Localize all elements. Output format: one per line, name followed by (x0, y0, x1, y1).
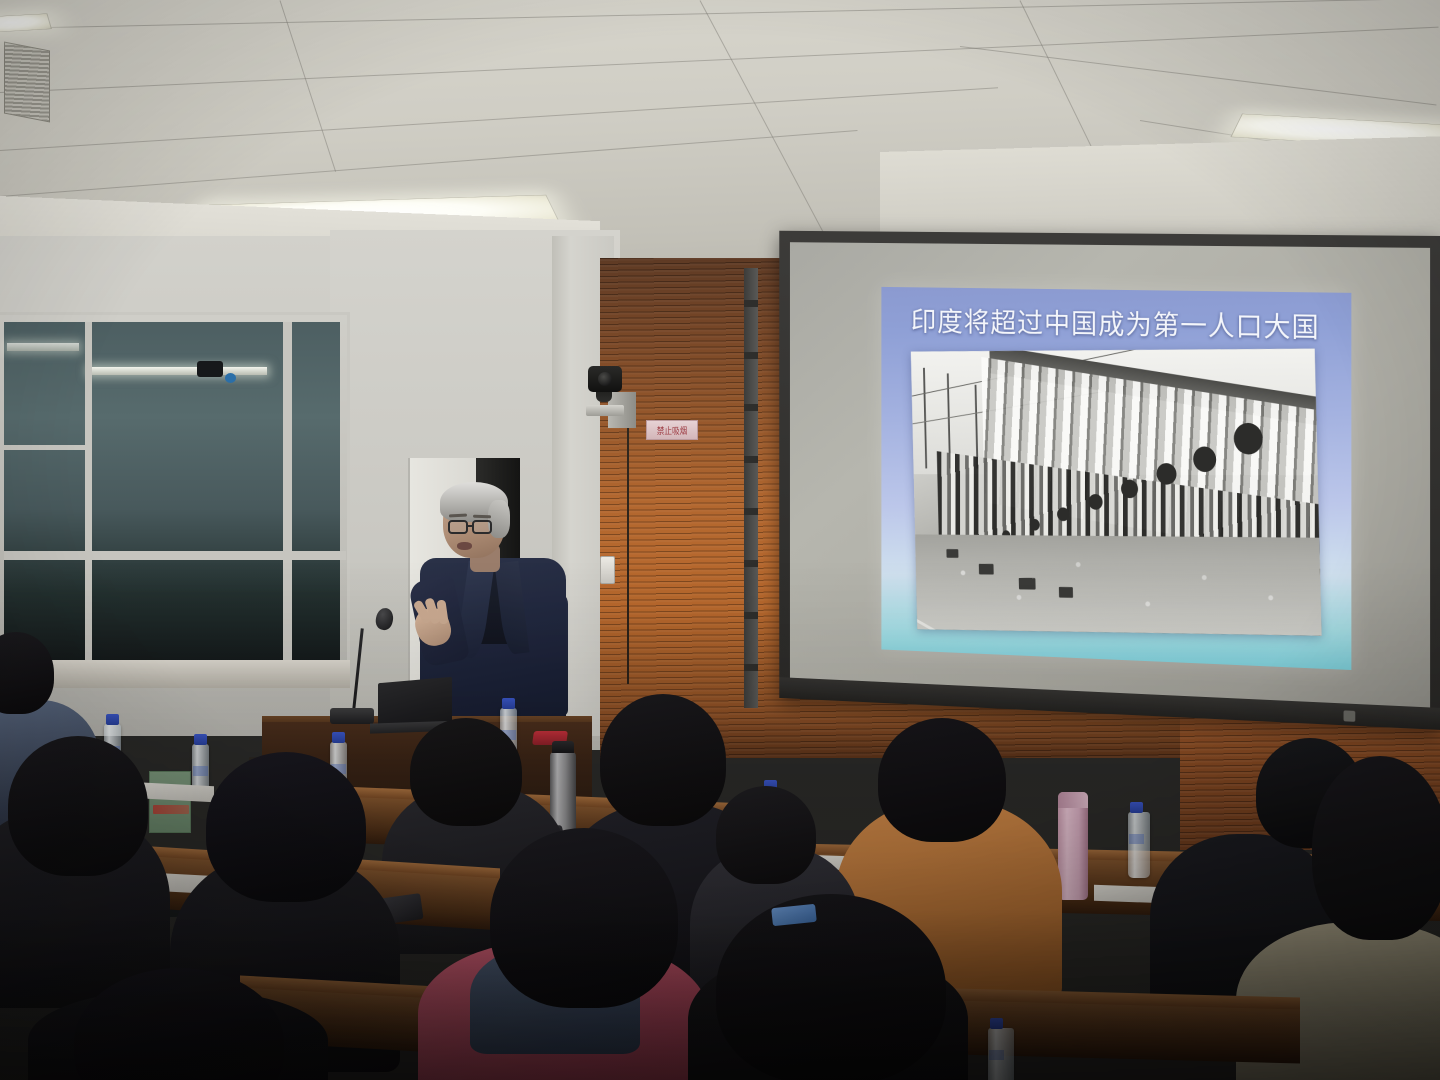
speaker-hair-side (488, 500, 510, 538)
audience-head (8, 736, 148, 876)
slide-photo-train (911, 349, 1322, 636)
audience-head (410, 718, 522, 826)
audience-head (206, 752, 366, 902)
water-bottle (1128, 812, 1150, 878)
audience-head (878, 718, 1006, 842)
window-room-light (89, 367, 267, 375)
microphone-base (330, 708, 374, 724)
wood-wall-edge-trim (744, 268, 758, 708)
light-switch[interactable] (600, 556, 615, 584)
audience-head (600, 694, 726, 826)
audience-head (716, 894, 946, 1080)
camera-cable (627, 424, 629, 684)
speaker-mouth (457, 542, 472, 550)
window-projector-lens-icon (225, 373, 236, 383)
ac-vent-icon (4, 42, 50, 123)
wall-sign-label: 禁止吸烟 (657, 424, 688, 437)
window-projector (197, 361, 223, 377)
screen-border: 印度将超过中国成为第一人口大国 (779, 231, 1440, 730)
lecture-hall-photo: 禁止吸烟 印度将超过中国成为第一人口大国 (0, 0, 1440, 1080)
window-room-light (7, 343, 79, 351)
camera-lens-icon (598, 372, 612, 386)
interior-window (0, 312, 350, 672)
slide-title: 印度将超过中国成为第一人口大国 (881, 300, 1351, 346)
audience-head (716, 786, 816, 884)
ceiling-light-panel (0, 13, 52, 33)
slide: 印度将超过中国成为第一人口大国 (881, 287, 1351, 670)
audience-head (1312, 756, 1440, 940)
poster-text (153, 805, 189, 814)
wall-sign: 禁止吸烟 (646, 420, 698, 440)
window-green-poster (149, 771, 191, 833)
speaker-glasses-left-lens (448, 520, 468, 534)
screen-pull-knob[interactable] (1344, 710, 1356, 721)
screen-surface: 印度将超过中国成为第一人口大国 (790, 242, 1430, 707)
audience-head (490, 828, 678, 1008)
water-bottle (988, 1028, 1014, 1080)
speaker-glasses-right-lens (472, 520, 492, 534)
speaker-glasses-bridge (468, 525, 474, 527)
pink-thermos (1058, 792, 1088, 900)
camera-arm (586, 405, 624, 416)
projection-screen: 印度将超过中国成为第一人口大国 (779, 231, 1440, 730)
